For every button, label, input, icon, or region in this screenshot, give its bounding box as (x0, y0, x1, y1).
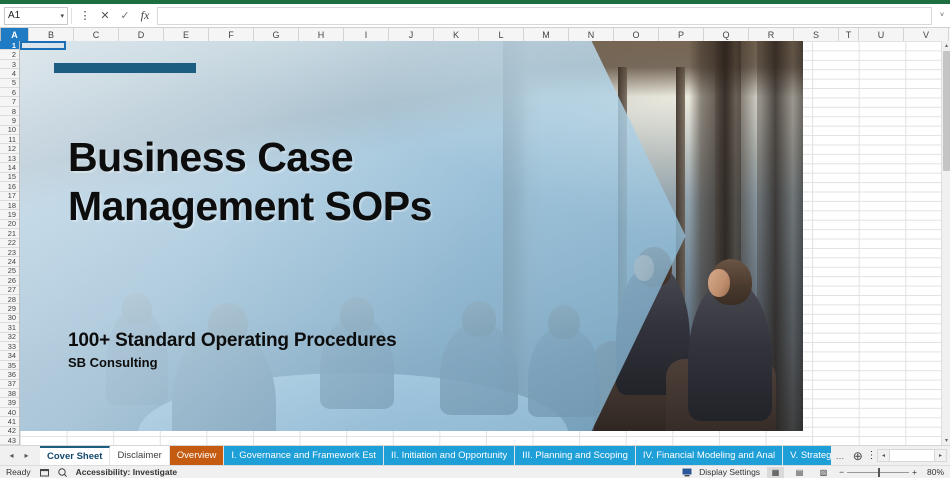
tab-navigation: ◂ ▸ (4, 448, 34, 463)
row-header-3[interactable]: 3 (0, 60, 19, 69)
row-header-18[interactable]: 18 (0, 201, 19, 210)
row-header-39[interactable]: 39 (0, 398, 19, 407)
accessibility-icon[interactable] (58, 468, 67, 477)
view-normal-button[interactable]: ▦ (767, 467, 784, 478)
hscroll-track[interactable] (890, 449, 934, 462)
column-header-a[interactable]: A (1, 28, 29, 41)
sheet-tab-i-governance-and-framework-est[interactable]: I. Governance and Framework Est (224, 446, 384, 466)
row-header-12[interactable]: 12 (0, 144, 19, 153)
column-header-g[interactable]: G (254, 28, 299, 41)
add-sheet-icon[interactable]: ⊕ (850, 447, 867, 465)
view-page-break-button[interactable]: ▧ (815, 467, 832, 478)
zoom-in-icon[interactable]: + (912, 467, 917, 477)
column-header-p[interactable]: P (659, 28, 704, 41)
slide-title: Business Case Management SOPs (68, 133, 488, 231)
row-header-25[interactable]: 25 (0, 267, 19, 276)
slide-author: SB Consulting (68, 355, 158, 370)
insert-function-icon[interactable]: fx (135, 6, 155, 26)
zoom-slider[interactable]: − + (839, 467, 917, 477)
accent-bar (54, 63, 196, 73)
row-header-32[interactable]: 32 (0, 333, 19, 342)
column-header-i[interactable]: I (344, 28, 389, 41)
name-box-value: A1 (8, 10, 20, 21)
row-header-35[interactable]: 35 (0, 361, 19, 370)
hscroll-right-icon[interactable]: ▸ (934, 449, 947, 462)
sheet-tab-overview[interactable]: Overview (170, 446, 225, 466)
row-header-14[interactable]: 14 (0, 163, 19, 172)
row-header-26[interactable]: 26 (0, 276, 19, 285)
column-header-t[interactable]: T (839, 28, 859, 41)
cancel-icon[interactable]: ✕ (95, 6, 115, 26)
column-header-c[interactable]: C (74, 28, 119, 41)
row-header-9[interactable]: 9 (0, 116, 19, 125)
row-header-24[interactable]: 24 (0, 257, 19, 266)
expand-formula-bar-icon[interactable]: ˅ (934, 6, 950, 26)
vertical-scroll-thumb[interactable] (943, 51, 950, 171)
column-header-s[interactable]: S (794, 28, 839, 41)
row-header-41[interactable]: 41 (0, 417, 19, 426)
column-header-d[interactable]: D (119, 28, 164, 41)
sheet-tab-iii-planning-and-scoping[interactable]: III. Planning and Scoping (515, 446, 636, 466)
name-box[interactable]: A1 ▾ (4, 7, 68, 25)
enter-icon[interactable]: ✓ (115, 6, 135, 26)
display-settings-label[interactable]: Display Settings (699, 467, 760, 477)
macro-record-icon[interactable] (40, 468, 49, 477)
view-page-layout-button[interactable]: ▤ (791, 467, 808, 478)
column-header-e[interactable]: E (164, 28, 209, 41)
row-header-19[interactable]: 19 (0, 210, 19, 219)
row-header-33[interactable]: 33 (0, 342, 19, 351)
row-header-31[interactable]: 31 (0, 323, 19, 332)
divider (71, 8, 72, 24)
column-header-h[interactable]: H (299, 28, 344, 41)
row-headers: 1234567891011121314151617181920212223242… (0, 41, 20, 445)
column-header-m[interactable]: M (524, 28, 569, 41)
horizontal-scrollbar[interactable]: ◂ ▸ (877, 449, 947, 462)
sheet-tab-iv-financial-modeling-and-anal[interactable]: IV. Financial Modeling and Anal (636, 446, 783, 466)
person-face (708, 269, 730, 297)
scroll-up-icon[interactable]: ▴ (942, 41, 950, 50)
row-header-13[interactable]: 13 (0, 154, 19, 163)
status-state: Ready (6, 467, 31, 477)
worksheet-grid[interactable]: Business Case Management SOPs 100+ Stand… (20, 41, 941, 445)
row-header-22[interactable]: 22 (0, 239, 19, 248)
row-header-36[interactable]: 36 (0, 370, 19, 379)
row-header-37[interactable]: 37 (0, 380, 19, 389)
scroll-down-icon[interactable]: ▾ (942, 436, 950, 445)
sheet-tab-ii-initiation-and-opportunity[interactable]: II. Initiation and Opportunity (384, 446, 515, 466)
row-header-38[interactable]: 38 (0, 389, 19, 398)
column-header-o[interactable]: O (614, 28, 659, 41)
vertical-scrollbar[interactable]: ▴ ▾ (941, 41, 950, 445)
excel-window: A1 ▾ ⋮ ✕ ✓ fx ˅ ABCDEFGHIJKLMNOPQRSTUVW … (0, 0, 950, 478)
row-header-10[interactable]: 10 (0, 126, 19, 135)
cover-slide-image[interactable]: Business Case Management SOPs 100+ Stand… (20, 41, 803, 431)
row-header-23[interactable]: 23 (0, 248, 19, 257)
sheet-tab-cover-sheet[interactable]: Cover Sheet (40, 446, 110, 466)
formula-input[interactable] (157, 7, 932, 25)
row-header-34[interactable]: 34 (0, 351, 19, 360)
row-header-28[interactable]: 28 (0, 295, 19, 304)
row-header-11[interactable]: 11 (0, 135, 19, 144)
column-header-v[interactable]: V (904, 28, 949, 41)
row-header-40[interactable]: 40 (0, 408, 19, 417)
column-header-l[interactable]: L (479, 28, 524, 41)
column-header-q[interactable]: Q (704, 28, 749, 41)
row-header-6[interactable]: 6 (0, 88, 19, 97)
sheet-tab-disclaimer[interactable]: Disclaimer (110, 446, 169, 466)
display-settings-icon[interactable] (682, 468, 692, 477)
row-header-8[interactable]: 8 (0, 107, 19, 116)
row-header-2[interactable]: 2 (0, 50, 19, 59)
zoom-out-icon[interactable]: − (839, 467, 844, 477)
row-header-4[interactable]: 4 (0, 69, 19, 78)
sheet-tab-v-strategic-and-qualitati[interactable]: V. Strategic and Qualitati (783, 446, 830, 466)
row-header-5[interactable]: 5 (0, 79, 19, 88)
column-header-f[interactable]: F (209, 28, 254, 41)
accessibility-label[interactable]: Accessibility: Investigate (76, 467, 178, 477)
row-header-7[interactable]: 7 (0, 97, 19, 106)
sheet-tab-bar: ◂ ▸ Cover SheetDisclaimerOverviewI. Gove… (0, 445, 950, 465)
formula-bar: A1 ▾ ⋮ ✕ ✓ fx ˅ (0, 4, 950, 28)
column-header-r[interactable]: R (749, 28, 794, 41)
status-bar: Ready Accessibility: Investigate Display… (0, 465, 950, 478)
tabs-overflow-icon[interactable]: … (831, 451, 850, 461)
row-header-20[interactable]: 20 (0, 220, 19, 229)
row-header-15[interactable]: 15 (0, 173, 19, 182)
row-header-21[interactable]: 21 (0, 229, 19, 238)
column-headers: ABCDEFGHIJKLMNOPQRSTUVW (0, 28, 950, 41)
row-header-27[interactable]: 27 (0, 286, 19, 295)
zoom-track[interactable] (847, 472, 909, 473)
row-header-1[interactable]: 1 (0, 41, 19, 50)
row-header-29[interactable]: 29 (0, 304, 19, 313)
zoom-thumb[interactable] (878, 468, 880, 477)
all-sheets-icon[interactable]: ⋮ (866, 450, 877, 461)
row-header-42[interactable]: 42 (0, 427, 19, 436)
row-header-30[interactable]: 30 (0, 314, 19, 323)
sheet-tabs: Cover SheetDisclaimerOverviewI. Governan… (40, 446, 831, 466)
select-all-corner[interactable] (0, 28, 1, 41)
row-header-16[interactable]: 16 (0, 182, 19, 191)
column-header-b[interactable]: B (29, 28, 74, 41)
column-header-j[interactable]: J (389, 28, 434, 41)
zoom-level[interactable]: 80% (924, 467, 944, 477)
chevron-down-icon[interactable]: ▾ (60, 12, 64, 20)
hscroll-left-icon[interactable]: ◂ (877, 449, 890, 462)
column-header-n[interactable]: N (569, 28, 614, 41)
slide-subtitle: 100+ Standard Operating Procedures (68, 330, 538, 352)
tab-next-icon[interactable]: ▸ (19, 448, 34, 463)
row-header-17[interactable]: 17 (0, 192, 19, 201)
column-header-u[interactable]: U (859, 28, 904, 41)
column-header-k[interactable]: K (434, 28, 479, 41)
name-box-menu-icon[interactable]: ⋮ (75, 6, 95, 26)
tab-prev-icon[interactable]: ◂ (4, 448, 19, 463)
